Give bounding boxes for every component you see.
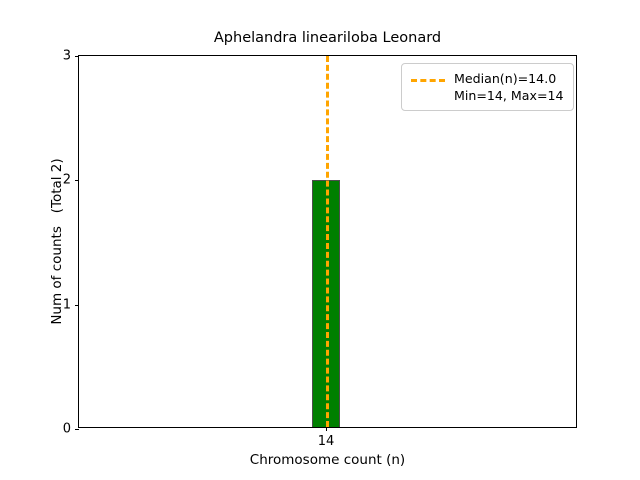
x-tick-mark-14	[326, 427, 327, 431]
median-line	[326, 56, 329, 427]
legend: Median(n)=14.0 Min=14, Max=14	[401, 63, 574, 111]
legend-label-median: Median(n)=14.0	[454, 71, 564, 86]
page-title: Aphelandra lineariloba Leonard	[78, 30, 577, 46]
y-tick-mark-0	[75, 429, 79, 430]
x-tick-label-14: 14	[318, 434, 335, 449]
legend-text: Median(n)=14.0 Min=14, Max=14	[454, 71, 564, 103]
y-axis-label: Num of counts (Total 2)	[46, 55, 68, 428]
legend-label-minmax: Min=14, Max=14	[454, 88, 564, 103]
x-axis-label: Chromosome count (n)	[78, 452, 577, 468]
legend-dash-icon	[411, 71, 445, 88]
chart-figure: Aphelandra lineariloba Leonard 0 1 2 3 1…	[0, 0, 640, 480]
plot-inner	[79, 56, 576, 427]
plot-area: 0 1 2 3 14 Median(n)=14.0 Min=14, Max=14	[78, 55, 577, 428]
